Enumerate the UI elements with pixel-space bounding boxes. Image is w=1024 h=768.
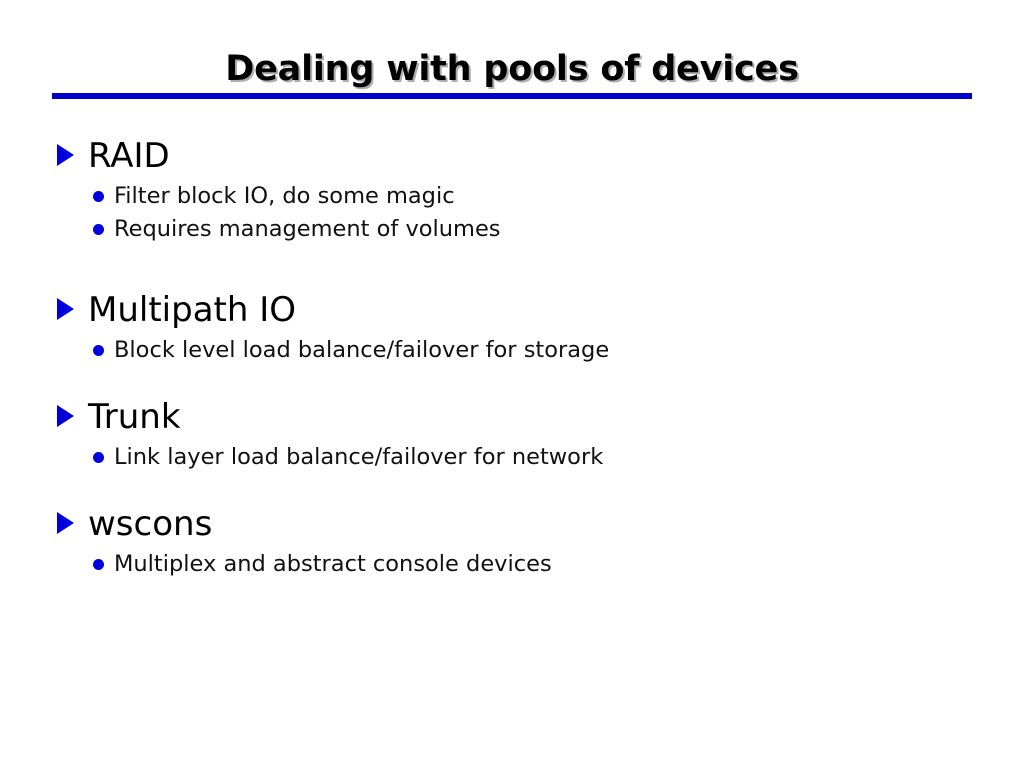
outline-level2-label: Link layer load balance/failover for net… bbox=[114, 441, 603, 474]
dot-icon bbox=[93, 224, 104, 235]
outline-level1-item[interactable]: RAID bbox=[0, 134, 1024, 178]
title-underline-rule bbox=[52, 93, 972, 99]
outline-sublist: Multiplex and abstract console devices bbox=[0, 548, 1024, 581]
outline-sublist: Filter block IO, do some magic Requires … bbox=[0, 180, 1024, 246]
outline-level2-label: Requires management of volumes bbox=[114, 213, 501, 246]
outline-group: Multipath IO Block level load balance/fa… bbox=[0, 288, 1024, 367]
outline-level2-item[interactable]: Block level load balance/failover for st… bbox=[0, 334, 1024, 367]
outline-group: wscons Multiplex and abstract console de… bbox=[0, 502, 1024, 581]
dot-icon bbox=[93, 345, 104, 356]
dot-icon bbox=[93, 559, 104, 570]
triangle-right-icon bbox=[57, 144, 74, 166]
title-block: Dealing with pools of devices bbox=[52, 48, 972, 90]
outline-level2-label: Multiplex and abstract console devices bbox=[114, 548, 552, 581]
triangle-right-icon bbox=[57, 298, 74, 320]
outline-level1-label: RAID bbox=[88, 134, 170, 178]
outline-level1-item[interactable]: Trunk bbox=[0, 395, 1024, 439]
page-title: Dealing with pools of devices bbox=[52, 48, 972, 90]
outline-level1-label: wscons bbox=[88, 502, 212, 546]
outline-sublist: Block level load balance/failover for st… bbox=[0, 334, 1024, 367]
outline-level2-label: Block level load balance/failover for st… bbox=[114, 334, 609, 367]
outline-level1-label: Multipath IO bbox=[88, 288, 296, 332]
outline-level2-label: Filter block IO, do some magic bbox=[114, 180, 455, 213]
outline-group: RAID Filter block IO, do some magic Requ… bbox=[0, 134, 1024, 246]
dot-icon bbox=[93, 191, 104, 202]
outline-level1-item[interactable]: Multipath IO bbox=[0, 288, 1024, 332]
outline-level1-item[interactable]: wscons bbox=[0, 502, 1024, 546]
outline-level2-item[interactable]: Filter block IO, do some magic bbox=[0, 180, 1024, 213]
outline-group: Trunk Link layer load balance/failover f… bbox=[0, 395, 1024, 474]
triangle-right-icon bbox=[57, 512, 74, 534]
dot-icon bbox=[93, 452, 104, 463]
outline-level2-item[interactable]: Link layer load balance/failover for net… bbox=[0, 441, 1024, 474]
outline-content: RAID Filter block IO, do some magic Requ… bbox=[0, 134, 1024, 581]
outline-sublist: Link layer load balance/failover for net… bbox=[0, 441, 1024, 474]
slide: Dealing with pools of devices RAID Filte… bbox=[0, 0, 1024, 768]
triangle-right-icon bbox=[57, 405, 74, 427]
outline-level2-item[interactable]: Requires management of volumes bbox=[0, 213, 1024, 246]
outline-level1-label: Trunk bbox=[88, 395, 181, 439]
outline-level2-item[interactable]: Multiplex and abstract console devices bbox=[0, 548, 1024, 581]
